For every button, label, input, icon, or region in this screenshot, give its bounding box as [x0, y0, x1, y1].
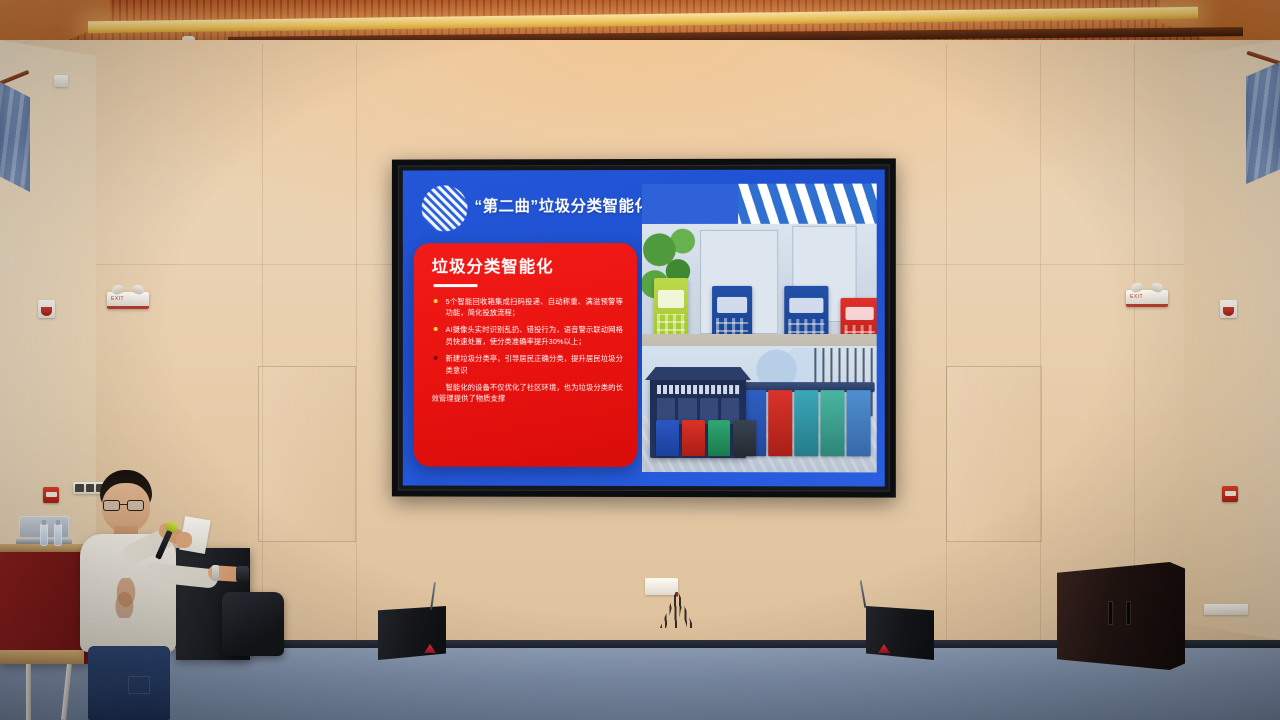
bullet-list: 5个智能回收箱集成扫码投递、自动称重、满溢预警等功能，简化投放流程； AI摄像头…	[432, 296, 623, 377]
glasses-bridge	[120, 504, 127, 505]
water-bottle-1[interactable]	[40, 524, 48, 546]
wall-access-panel-right[interactable]	[946, 366, 1042, 542]
other-waste-bin	[733, 420, 756, 456]
wall-seam-v4	[1040, 44, 1041, 640]
slide-photo-collage	[642, 184, 877, 473]
striped-circle-decoration	[422, 185, 468, 231]
sorting-bin-row	[656, 420, 756, 456]
machine-display	[845, 307, 874, 320]
presentation-clicker[interactable]	[236, 566, 249, 582]
machine-display	[658, 290, 684, 307]
hazardous-waste-bin	[682, 420, 705, 456]
machine-display	[717, 297, 747, 312]
cable-access-panel	[645, 578, 678, 595]
bullet-item-2: AI摄像头实时识别乱扔、错投行为，语音警示联动网格员快速处置，使分类准确率提升3…	[432, 324, 623, 348]
pavilion-signboard	[657, 385, 739, 394]
bullet-dot-icon	[434, 356, 438, 360]
alarm-bell-right	[1220, 300, 1237, 318]
kitchen-waste-bin	[708, 420, 731, 456]
emergency-exit-light-left: EXIT	[107, 292, 149, 309]
station-panel	[794, 390, 818, 456]
pavilion-roof	[645, 367, 751, 380]
station-panel	[847, 390, 871, 456]
alarm-bell-left	[38, 300, 55, 318]
subwoofer-cabinet	[1057, 562, 1185, 670]
card-title: 垃圾分类智能化	[432, 258, 623, 276]
bullet-item-1: 5个智能回收箱集成扫码投递、自动称重、满溢预警等功能，简化投放流程；	[432, 296, 623, 320]
glasses-lens-left	[103, 500, 120, 511]
window-curtain-right	[1246, 62, 1280, 184]
glasses-lens-right	[127, 500, 144, 511]
wall-outlet-plate[interactable]	[1204, 604, 1248, 615]
machine-display	[790, 297, 824, 313]
wall-seam-v1	[262, 44, 263, 640]
fire-alarm-call-point-right[interactable]	[1222, 486, 1238, 502]
bullet-dot-icon	[434, 299, 438, 303]
slide-content-card: 垃圾分类智能化 5个智能回收箱集成扫码投递、自动称重、满溢预警等功能，简化投放流…	[414, 243, 637, 467]
speaker-badge	[878, 644, 890, 653]
wall-sensor-plate-left	[54, 75, 68, 87]
presenter-left-hand	[176, 532, 192, 548]
waste-sorting-pavilion-photo	[642, 346, 877, 472]
presentation-slide: “第二曲”垃圾分类智能化 垃圾分类智能化 5个智能回收箱集成扫码投递、自动称重、…	[403, 169, 885, 486]
wall-access-panel-left[interactable]	[258, 366, 356, 542]
emergency-exit-light-right: EXIT	[1126, 290, 1168, 307]
fire-alarm-call-point-left[interactable]	[43, 487, 59, 503]
bullet-text: 新建垃圾分类亭，引导居民正确分类，提升居民垃圾分类意识	[446, 354, 623, 375]
pants-pocket	[128, 676, 150, 694]
wristwatch	[212, 565, 219, 581]
subwoofer-handle	[1127, 602, 1130, 624]
waste-sorting-station	[742, 390, 871, 456]
wall-seam-v3	[946, 44, 947, 640]
waste-sorting-pavilion	[650, 376, 746, 458]
bullet-dot-icon	[434, 327, 438, 331]
recyclable-bin	[656, 420, 679, 456]
card-summary-text: 智能化的设备不仅优化了社区环境，也为垃圾分类的长效管理提供了物质支撑	[432, 381, 623, 405]
speaker-badge	[424, 644, 436, 653]
window-curtain-left	[0, 82, 30, 192]
presenter	[72, 470, 242, 720]
stage-monitor-speaker-left	[378, 606, 446, 660]
table-leg	[26, 664, 31, 720]
glasses-icon	[101, 500, 153, 511]
shirt-graphic-print	[110, 578, 142, 618]
station-panel	[820, 390, 844, 456]
bullet-item-3: 新建垃圾分类亭，引导居民正确分类，提升居民垃圾分类意识	[432, 353, 623, 377]
station-panel	[768, 390, 792, 456]
title-underline	[434, 284, 478, 287]
led-display-screen[interactable]: “第二曲”垃圾分类智能化 垃圾分类智能化 5个智能回收箱集成扫码投递、自动称重、…	[392, 158, 896, 497]
subwoofer-handle	[1109, 602, 1112, 624]
presentation-room-scene: EXIT EXIT “第二曲”垃圾分类智能化 垃圾分类智能化 5个智能回收箱集成	[0, 0, 1280, 720]
water-bottle-2[interactable]	[54, 524, 62, 546]
wall-seam-v5	[1134, 44, 1135, 640]
bullet-text: 5个智能回收箱集成扫码投递、自动称重、满溢预警等功能，简化投放流程；	[446, 297, 623, 318]
bullet-text: AI摄像头实时识别乱扔、错投行为，语音警示联动网格员快速处置，使分类准确率提升3…	[446, 325, 623, 346]
wall-seam-v2	[356, 44, 357, 640]
stage-monitor-speaker-right	[866, 606, 934, 660]
